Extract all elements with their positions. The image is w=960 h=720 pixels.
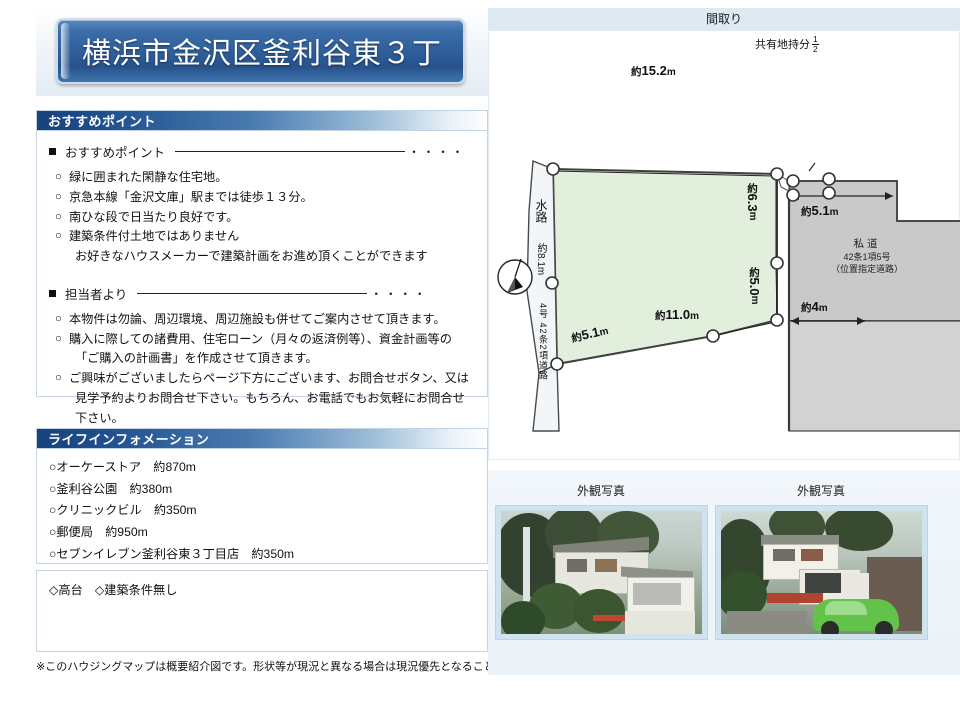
- exterior-photo-2[interactable]: [715, 505, 928, 640]
- title-dots: ・・・・: [408, 143, 466, 160]
- dimension-right-lower: 約5.0m: [747, 267, 762, 304]
- title-banner: 横浜市金沢区釜利谷東３丁: [36, 8, 488, 96]
- left-column: 横浜市金沢区釜利谷東３丁 おすすめポイント おすすめポイント ・・・・ ○緑に囲…: [36, 0, 488, 720]
- section-header-points: おすすめポイント: [36, 110, 488, 131]
- dimension-road-bottom: 約4m: [801, 299, 828, 315]
- list-item: ○緑に囲まれた閑静な住宅地。: [49, 168, 475, 188]
- boundary-node: [787, 175, 799, 187]
- bullet-square-icon: [49, 290, 56, 297]
- list-item-continuation: お好きなハウスメーカーで建築計画をお進め頂くことができます: [49, 247, 475, 267]
- list-item: ○オーケーストア 約870m: [49, 457, 475, 479]
- list-item: ○南ひな段で日当たり良好です。: [49, 208, 475, 228]
- section-body-life-information: ○オーケーストア 約870m ○釜利谷公園 約380m ○クリニックビル 約35…: [36, 449, 488, 564]
- boundary-node: [551, 358, 563, 370]
- property-title-plate: 横浜市金沢区釜利谷東３丁: [56, 18, 465, 84]
- boundary-node: [771, 257, 783, 269]
- points-group-0: おすすめポイント ・・・・ ○緑に囲まれた閑静な住宅地。 ○京急本線「金沢文庫」…: [49, 142, 475, 267]
- private-road-lower: [789, 321, 960, 431]
- site-plan-panel: 共有地持分 1 2 約15.2m 約6.3m 約5.0m 約11.0m: [488, 30, 960, 460]
- boundary-node: [771, 168, 783, 180]
- waterway-label: 水路: [533, 199, 550, 223]
- title-rule: [137, 293, 367, 294]
- photo-label-1: 外観写真: [496, 482, 706, 499]
- floorplan-band: 間取り: [488, 8, 960, 30]
- section-body-features: ◇高台 ◇建築条件無し: [36, 570, 488, 652]
- private-road-label: 私道 42条1項5号 （位置指定道路）: [811, 237, 923, 275]
- floorplan-label: 間取り: [488, 8, 960, 30]
- dimension-bottom: 約11.0m: [655, 307, 699, 323]
- points-group-1-title: 担当者より ・・・・: [49, 284, 475, 303]
- list-item: ○ご興味がございましたらページ下方にございます、お問合せボタン、又は: [49, 369, 475, 389]
- boundary-node: [546, 277, 558, 289]
- circle-bullet-icon: ○: [55, 168, 69, 187]
- exterior-photos-band: 外観写真 外観写真: [488, 470, 960, 675]
- points-group-0-title: おすすめポイント ・・・・: [49, 142, 475, 161]
- circle-bullet-icon: ○: [55, 227, 69, 246]
- list-item: ○購入に際しての諸費用、住宅ローン（月々の返済例等）、資金計画等の: [49, 330, 475, 350]
- circle-bullet-icon: ○: [55, 369, 69, 388]
- feature-line: ◇高台 ◇建築条件無し: [49, 580, 475, 598]
- circle-bullet-icon: ○: [55, 330, 69, 349]
- boundary-node: [823, 173, 835, 185]
- list-item-continuation: 「ご購入の計画書」を作成させて頂きます。: [49, 349, 475, 369]
- exterior-photo-1[interactable]: [495, 505, 708, 640]
- title-dots: ・・・・: [370, 285, 428, 302]
- site-plan-diagram: 共有地持分 1 2 約15.2m 約6.3m 約5.0m 約11.0m: [489, 31, 960, 461]
- group-spacer: [49, 269, 475, 282]
- boundary-node: [787, 189, 799, 201]
- left-road-label: 4号 42条2項道路: [537, 303, 550, 381]
- boundary-node: [707, 330, 719, 342]
- page-title: 横浜市金沢区釜利谷東３丁: [58, 30, 442, 72]
- list-item: ○釜利谷公園 約380m: [49, 479, 475, 501]
- section-header-life-information: ライフインフォメーション: [36, 428, 488, 449]
- house-photo-icon: [721, 511, 922, 634]
- group-label: 担当者より: [65, 284, 127, 303]
- dimension-top: 約15.2m: [631, 63, 676, 79]
- bullet-square-icon: [49, 148, 56, 155]
- boundary-node: [547, 163, 559, 175]
- points-group-1: 担当者より ・・・・ ○本物件は勿論、周辺環境、周辺施設も併せてご案内させて頂き…: [49, 284, 475, 429]
- title-rule: [175, 151, 405, 152]
- fraction-one-half: 1 2: [812, 35, 819, 54]
- waterway-dimension: 約8.1m: [533, 243, 548, 275]
- list-item: ○郵便局 約950m: [49, 522, 475, 544]
- list-item: ○クリニックビル 約350m: [49, 500, 475, 522]
- group-label: おすすめポイント: [65, 142, 165, 161]
- boundary-node: [771, 314, 783, 326]
- boundary-node: [823, 187, 835, 199]
- circle-bullet-icon: ○: [55, 310, 69, 329]
- circle-bullet-icon: ○: [55, 188, 69, 207]
- list-item: ○京急本線「金沢文庫」駅までは徒歩１３分。: [49, 188, 475, 208]
- list-item: ○セブンイレブン釜利谷東３丁目店 約350m: [49, 544, 475, 566]
- right-column: 間取り: [488, 0, 960, 720]
- dimension-road-top: 約5.1m: [801, 203, 838, 219]
- list-item: ○本物件は勿論、周辺環境、周辺施設も併せてご案内させて頂きます。: [49, 310, 475, 330]
- shared-land-share-label: 共有地持分 1 2: [755, 35, 819, 54]
- list-item-continuation: 見学予約よりお問合せ下さい。もちろん、お電話でもお気軽にお問合せ下さい。: [49, 389, 475, 429]
- photo-label-2: 外観写真: [716, 482, 926, 499]
- circle-bullet-icon: ○: [55, 208, 69, 227]
- section-body-points: おすすめポイント ・・・・ ○緑に囲まれた閑静な住宅地。 ○京急本線「金沢文庫」…: [36, 131, 488, 397]
- page-root: 横浜市金沢区釜利谷東３丁 おすすめポイント おすすめポイント ・・・・ ○緑に囲…: [0, 0, 960, 720]
- list-item: ○建築条件付土地ではありません: [49, 227, 475, 247]
- dimension-right-upper: 約6.3m: [745, 183, 760, 220]
- house-photo-icon: [501, 511, 702, 634]
